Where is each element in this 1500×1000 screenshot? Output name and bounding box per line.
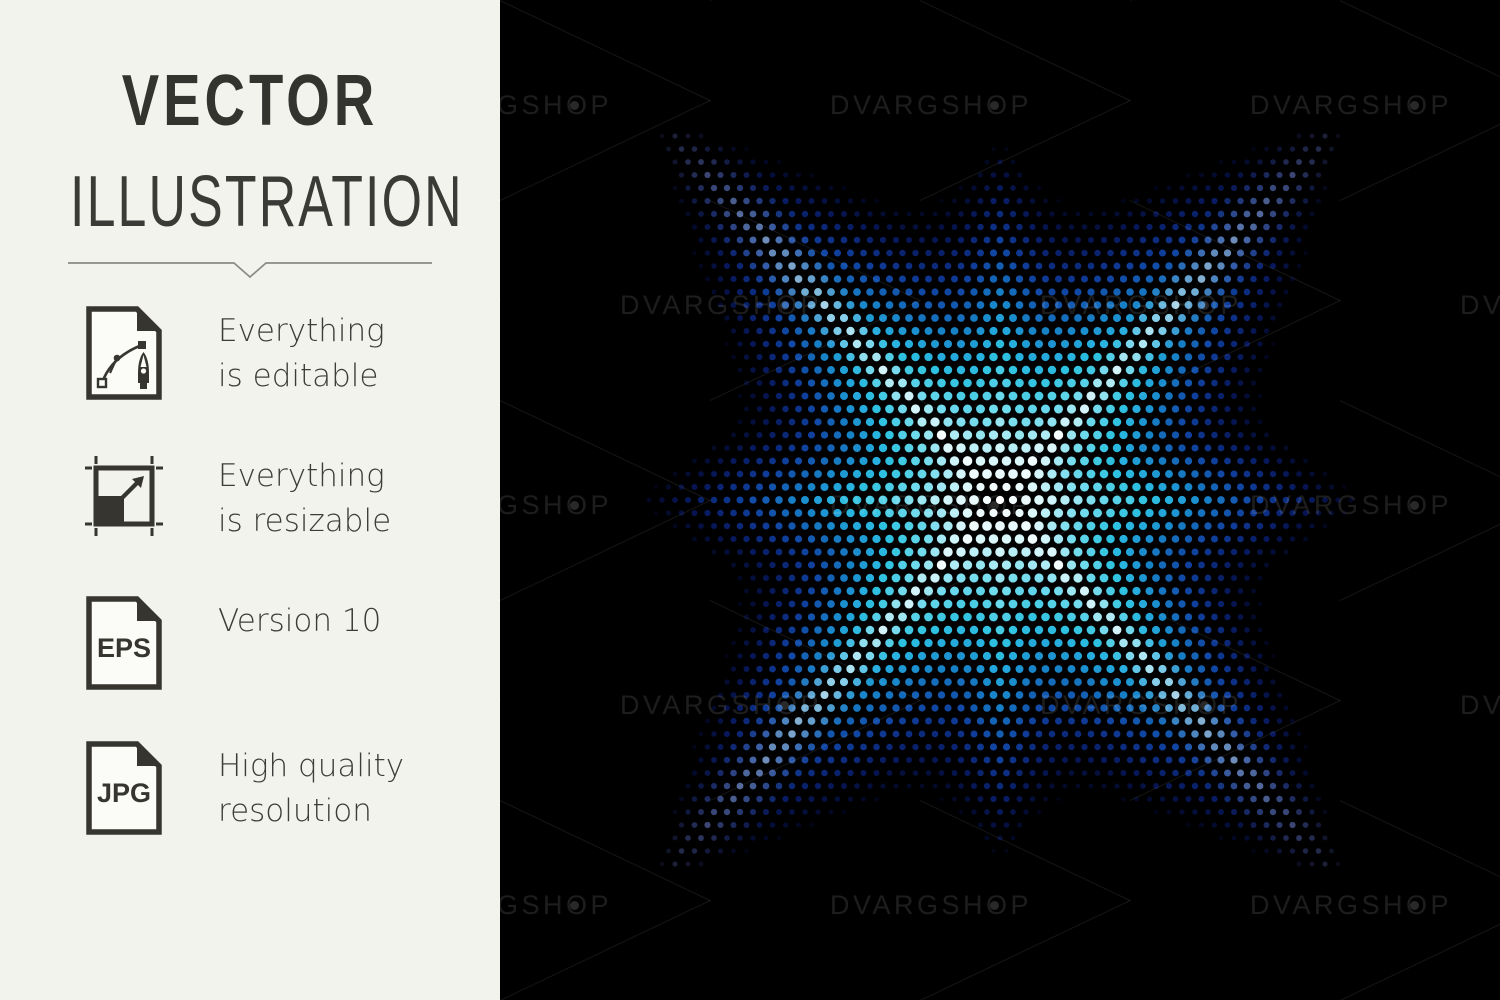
feature-label-version: Version 10	[218, 595, 381, 644]
resize-crop-arrow-icon	[85, 450, 163, 546]
feature-item-resolution: JPG High quality resolution	[0, 740, 500, 885]
page-title-primary: VECTOR	[55, 62, 445, 140]
jpg-file-icon: JPG	[85, 740, 163, 836]
feature-label-resolution: High quality resolution	[218, 740, 404, 834]
page-title-secondary: ILLUSTRATION	[70, 162, 430, 242]
chevron-down-notch-icon	[68, 258, 432, 280]
eps-file-icon-label: EPS	[97, 633, 151, 663]
feature-item-version: EPS Version 10	[0, 595, 500, 740]
feature-item-resizable: Everything is resizable	[0, 450, 500, 595]
title-divider	[68, 258, 432, 280]
eps-file-icon: EPS	[85, 595, 163, 691]
feature-item-editable: Everything is editable	[0, 305, 500, 450]
artwork-panel: DVARGSHOPDVARGSHOPDVARGSHOPDVARGSHOPDVAR…	[500, 0, 1500, 1000]
title-block: VECTOR ILLUSTRATION	[0, 62, 500, 242]
poster-root: VECTOR ILLUSTRATION	[0, 0, 1500, 1000]
document-pen-tool-icon	[85, 305, 163, 401]
feature-label-editable: Everything is editable	[218, 305, 385, 399]
jpg-file-icon-label: JPG	[97, 778, 151, 808]
info-panel: VECTOR ILLUSTRATION	[0, 0, 500, 1000]
feature-list: Everything is editable	[0, 305, 500, 885]
halftone-radial-starburst-artwork	[500, 0, 1500, 1000]
feature-label-resizable: Everything is resizable	[218, 450, 391, 544]
